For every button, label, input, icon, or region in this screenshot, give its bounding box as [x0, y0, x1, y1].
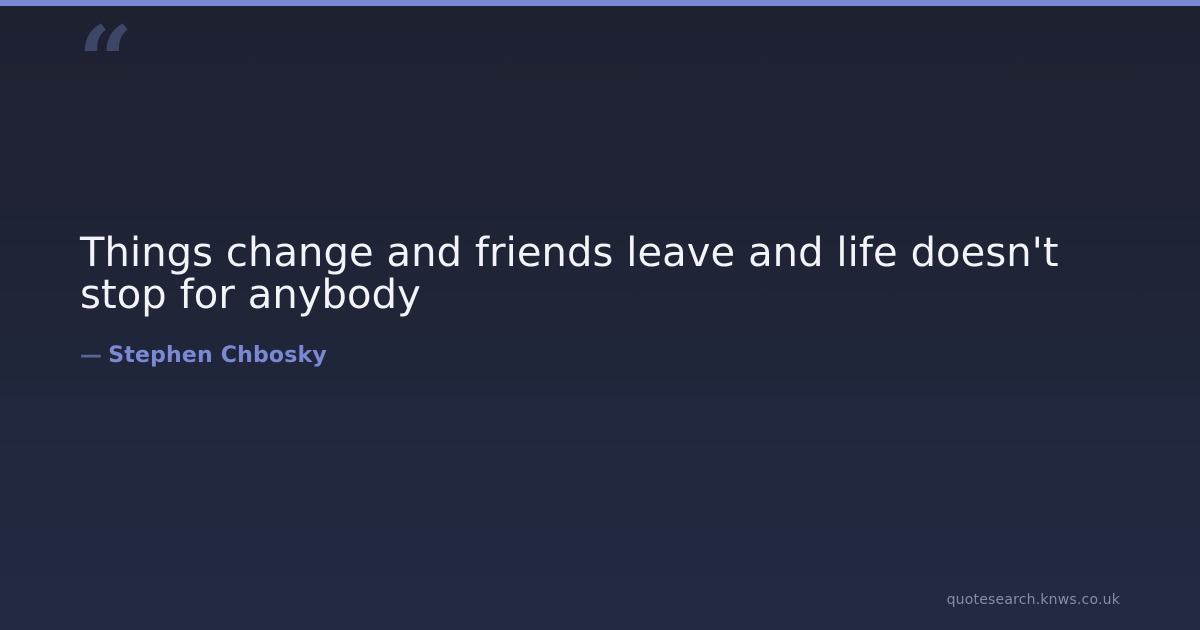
top-accent-bar: [0, 0, 1200, 6]
quote-content: Things change and friends leave and life…: [80, 232, 1120, 370]
quote-card: “ Things change and friends leave and li…: [0, 0, 1200, 630]
quotation-mark-icon: “: [78, 14, 131, 110]
attribution-author: Stephen Chbosky: [108, 343, 327, 368]
attribution-dash: —: [80, 343, 108, 368]
quote-attribution: —Stephen Chbosky: [80, 316, 1120, 370]
quote-text: Things change and friends leave and life…: [80, 232, 1090, 316]
site-watermark: quotesearch.knws.co.uk: [947, 592, 1120, 608]
